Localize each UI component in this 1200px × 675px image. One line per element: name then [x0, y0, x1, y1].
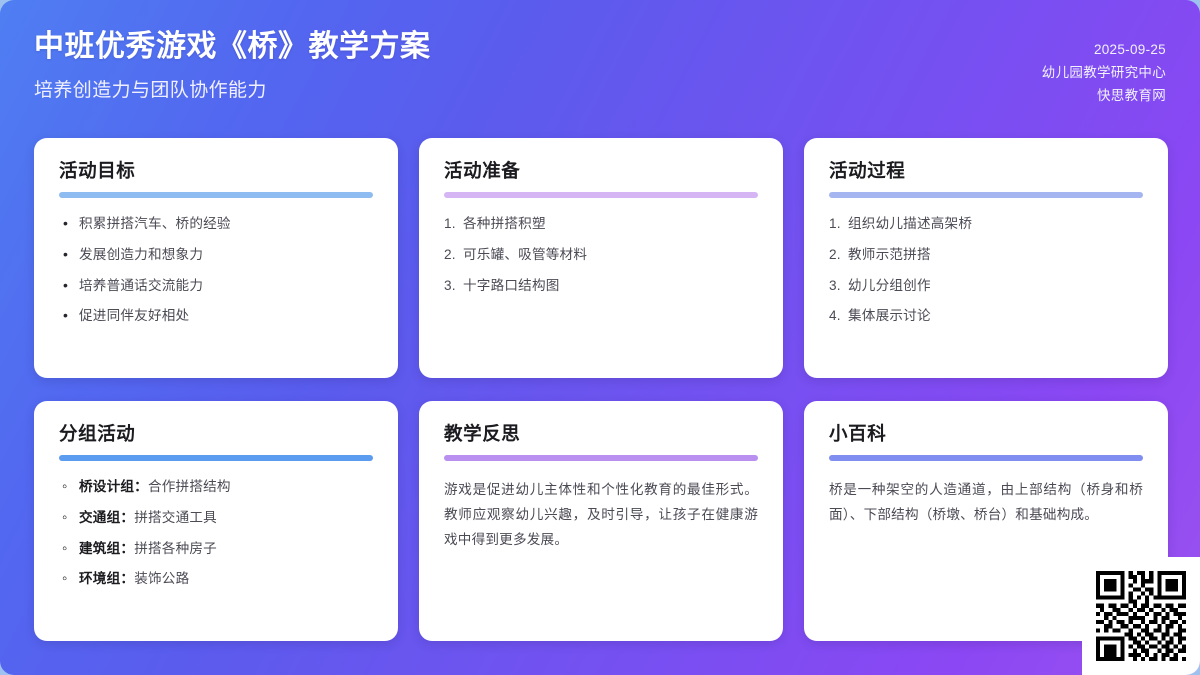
list-item: 可乐罐、吸管等材料 — [444, 245, 758, 265]
card-title: 活动准备 — [444, 160, 758, 182]
list-item: 建筑组：拼搭各种房子 — [59, 539, 373, 559]
card-title: 分组活动 — [59, 423, 373, 445]
card-group-activities[interactable]: 分组活动 桥设计组：合作拼搭结构 交通组：拼搭交通工具 建筑组：拼搭各种房子 环… — [34, 401, 398, 641]
card-grid: 活动目标 积累拼搭汽车、桥的经验 发展创造力和想象力 培养普通话交流能力 促进同… — [34, 138, 1168, 641]
header-site: 快思教育网 — [1042, 84, 1166, 107]
card-list: 桥设计组：合作拼搭结构 交通组：拼搭交通工具 建筑组：拼搭各种房子 环境组：装饰… — [59, 477, 373, 589]
card-paragraph: 桥是一种架空的人造通道，由上部结构（桥身和桥面）、下部结构（桥墩、桥台）和基础构… — [829, 477, 1143, 527]
slide-header: 中班优秀游戏《桥》教学方案 培养创造力与团队协作能力 2025-09-25 幼儿… — [0, 0, 1200, 132]
card-title: 小百科 — [829, 423, 1143, 445]
card-title: 教学反思 — [444, 423, 758, 445]
card-activity-preparation[interactable]: 活动准备 各种拼搭积塑 可乐罐、吸管等材料 十字路口结构图 — [419, 138, 783, 378]
group-value: 拼搭各种房子 — [134, 541, 217, 556]
card-accent-bar — [59, 455, 373, 461]
card-activity-goals[interactable]: 活动目标 积累拼搭汽车、桥的经验 发展创造力和想象力 培养普通话交流能力 促进同… — [34, 138, 398, 378]
list-item: 环境组：装饰公路 — [59, 569, 373, 589]
group-name: 交通组： — [79, 510, 134, 525]
list-item: 促进同伴友好相处 — [59, 306, 373, 326]
card-accent-bar — [59, 192, 373, 198]
card-accent-bar — [829, 455, 1143, 461]
list-item: 集体展示讨论 — [829, 306, 1143, 326]
card-accent-bar — [444, 192, 758, 198]
list-item: 培养普通话交流能力 — [59, 276, 373, 296]
list-item: 交通组：拼搭交通工具 — [59, 508, 373, 528]
list-item: 桥设计组：合作拼搭结构 — [59, 477, 373, 497]
group-name: 环境组： — [79, 571, 134, 586]
card-accent-bar — [829, 192, 1143, 198]
list-item: 十字路口结构图 — [444, 276, 758, 296]
group-value: 拼搭交通工具 — [134, 510, 217, 525]
list-item: 积累拼搭汽车、桥的经验 — [59, 214, 373, 234]
card-list: 各种拼搭积塑 可乐罐、吸管等材料 十字路口结构图 — [444, 214, 758, 295]
page-title: 中班优秀游戏《桥》教学方案 — [34, 28, 431, 66]
card-list: 组织幼儿描述高架桥 教师示范拼搭 幼儿分组创作 集体展示讨论 — [829, 214, 1143, 326]
slide-root: 中班优秀游戏《桥》教学方案 培养创造力与团队协作能力 2025-09-25 幼儿… — [0, 0, 1200, 675]
group-value: 合作拼搭结构 — [148, 479, 231, 494]
qr-code-icon[interactable] — [1096, 571, 1186, 661]
list-item: 幼儿分组创作 — [829, 276, 1143, 296]
card-paragraph: 游戏是促进幼儿主体性和个性化教育的最佳形式。教师应观察幼儿兴趣，及时引导，让孩子… — [444, 477, 758, 552]
list-item: 教师示范拼搭 — [829, 245, 1143, 265]
group-value: 装饰公路 — [134, 571, 189, 586]
header-title-group: 中班优秀游戏《桥》教学方案 培养创造力与团队协作能力 — [34, 26, 431, 102]
list-item: 组织幼儿描述高架桥 — [829, 214, 1143, 234]
page-subtitle: 培养创造力与团队协作能力 — [34, 75, 431, 102]
list-item: 各种拼搭积塑 — [444, 214, 758, 234]
card-activity-process[interactable]: 活动过程 组织幼儿描述高架桥 教师示范拼搭 幼儿分组创作 集体展示讨论 — [804, 138, 1168, 378]
header-date: 2025-09-25 — [1042, 38, 1166, 61]
qr-panel — [1082, 557, 1200, 675]
card-teaching-reflection[interactable]: 教学反思 游戏是促进幼儿主体性和个性化教育的最佳形式。教师应观察幼儿兴趣，及时引… — [419, 401, 783, 641]
list-item: 发展创造力和想象力 — [59, 245, 373, 265]
header-meta-group: 2025-09-25 幼儿园教学研究中心 快思教育网 — [1042, 26, 1166, 108]
group-name: 桥设计组： — [79, 479, 148, 494]
card-title: 活动过程 — [829, 160, 1143, 182]
card-title: 活动目标 — [59, 160, 373, 182]
card-accent-bar — [444, 455, 758, 461]
header-organization: 幼儿园教学研究中心 — [1042, 61, 1166, 84]
group-name: 建筑组： — [79, 541, 134, 556]
card-list: 积累拼搭汽车、桥的经验 发展创造力和想象力 培养普通话交流能力 促进同伴友好相处 — [59, 214, 373, 326]
